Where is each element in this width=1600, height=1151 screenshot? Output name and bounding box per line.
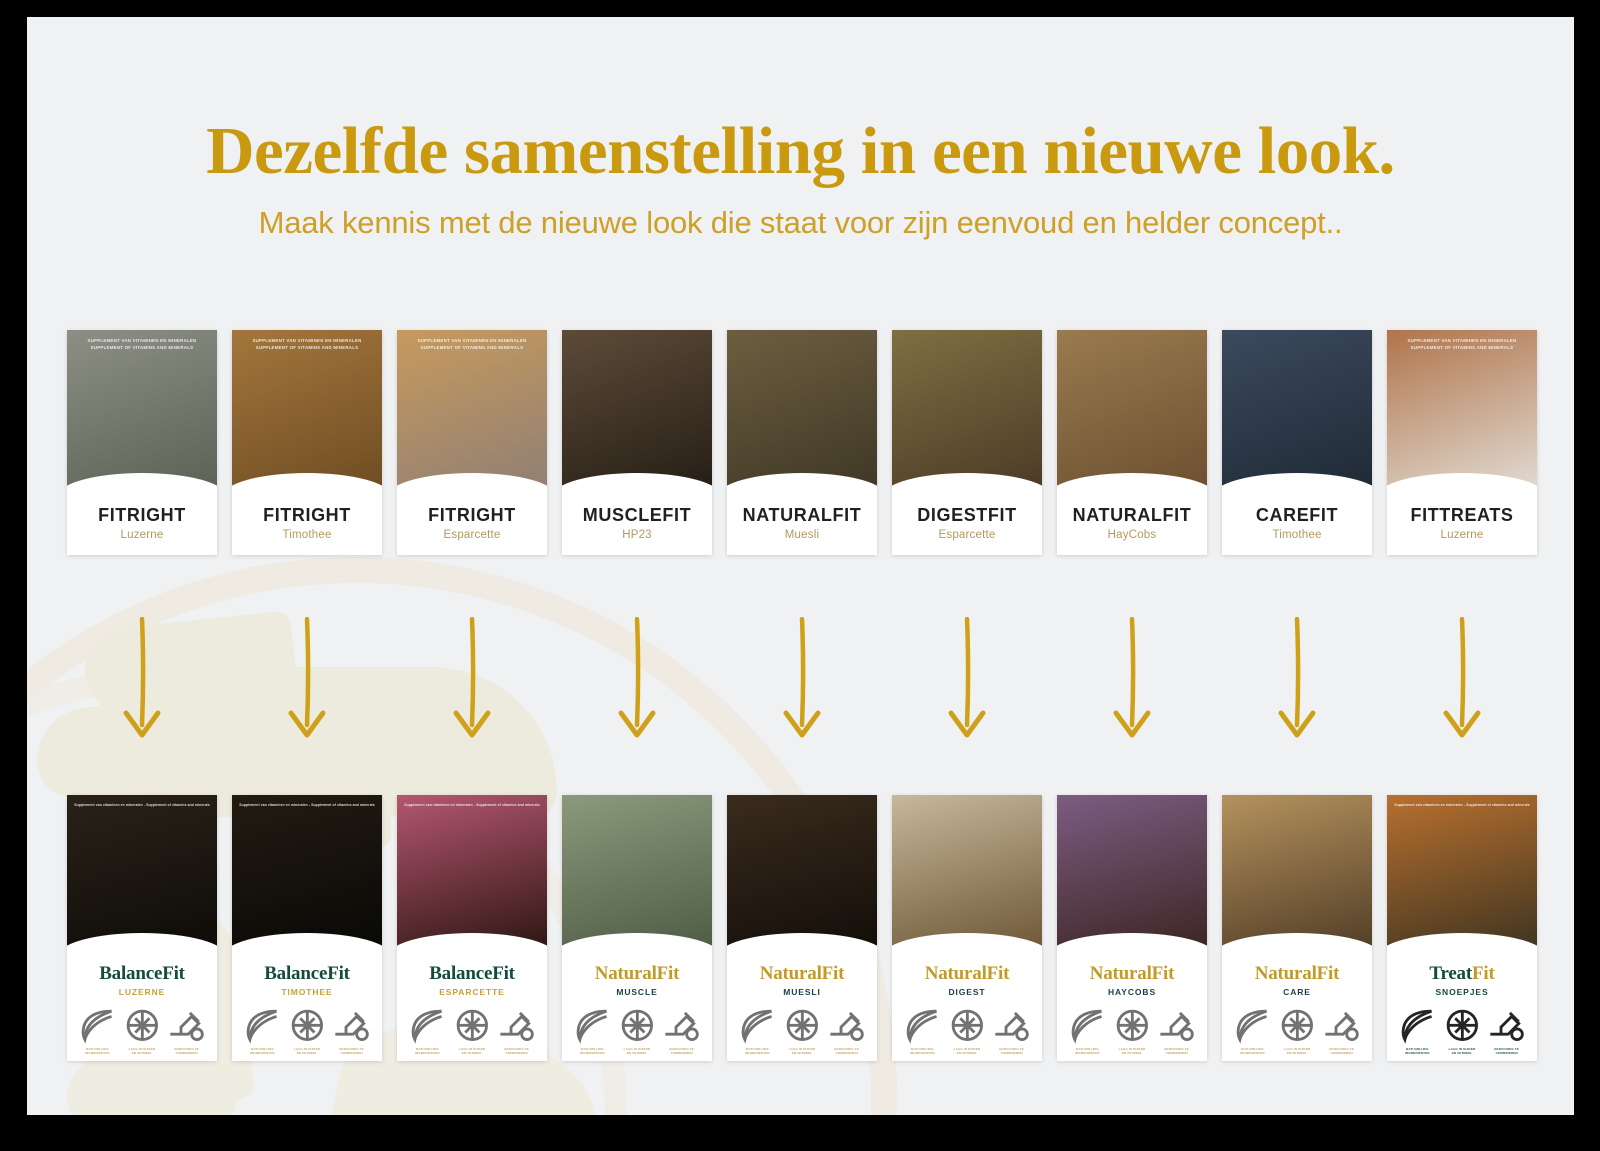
leaf-icon xyxy=(1396,1004,1439,1047)
feature-label: EENVOUDIG TECOMBINEREN xyxy=(495,1047,538,1055)
product-variant: TIMOTHEE xyxy=(236,987,378,997)
feature-row: NATUURLIJKEINGREDIËNTENLAAG IN SUIKEREN … xyxy=(1061,997,1203,1055)
feature-row: NATUURLIJKEINGREDIËNTENLAAG IN SUIKEREN … xyxy=(1226,997,1368,1055)
feature-row: NATUURLIJKEINGREDIËNTENLAAG IN SUIKEREN … xyxy=(566,997,708,1055)
product-variant: MUESLI xyxy=(731,987,873,997)
feature-label: LAAG IN SUIKEREN ZETMEEL xyxy=(1276,1047,1319,1055)
product-label: NaturalFitCARENATUURLIJKEINGREDIËNTENLAA… xyxy=(1222,955,1372,1061)
photo-curve-mask xyxy=(1387,933,1537,955)
feature-label: LAAG IN SUIKEREN ZETMEEL xyxy=(781,1047,824,1055)
photo-curve-mask xyxy=(892,473,1042,495)
packaging-banner-text: Supplement van vitaminen en mineralen - … xyxy=(1387,803,1537,808)
product-photo xyxy=(1057,330,1207,495)
feature-label: EENVOUDIG TECOMBINEREN xyxy=(1320,1047,1363,1055)
feature-label: LAAG IN SUIKEREN ZETMEEL xyxy=(121,1047,164,1055)
old-product-card[interactable]: DIGESTFITEsparcette xyxy=(892,330,1042,555)
feature-label: NATUURLIJKEINGREDIËNTEN xyxy=(1396,1047,1439,1055)
sugar-icon xyxy=(616,1004,659,1047)
feature-item-1: LAAG IN SUIKEREN ZETMEEL xyxy=(1111,1004,1154,1055)
packaging-banner-text: Supplement van vitaminen en mineralen - … xyxy=(397,803,547,808)
brand-part-secondary: Fit xyxy=(492,963,515,984)
feature-label: EENVOUDIG TECOMBINEREN xyxy=(1155,1047,1198,1055)
photo-curve-mask xyxy=(67,473,217,495)
product-variant: HAYCOBS xyxy=(1061,987,1203,997)
down-arrow-icon xyxy=(1057,617,1207,752)
new-product-card[interactable]: Supplement van vitaminen en mineralen - … xyxy=(67,795,217,1061)
feature-label: LAAG IN SUIKEREN ZETMEEL xyxy=(286,1047,329,1055)
feature-item-2: EENVOUDIG TECOMBINEREN xyxy=(165,1004,208,1055)
photo-curve-mask xyxy=(727,473,877,495)
product-label: BalanceFitESPARCETTENATUURLIJKEINGREDIËN… xyxy=(397,955,547,1061)
feature-label: EENVOUDIG TECOMBINEREN xyxy=(1485,1047,1528,1055)
brand-part-secondary: Fit xyxy=(822,963,845,984)
feature-row: NATUURLIJKEINGREDIËNTENLAAG IN SUIKEREN … xyxy=(1391,997,1533,1055)
brand-part-primary: Balance xyxy=(429,963,492,984)
poster-canvas: Dezelfde samenstelling in een nieuwe loo… xyxy=(27,17,1574,1115)
product-label: FITRIGHTEsparcette xyxy=(397,495,547,555)
sugar-icon xyxy=(1441,1004,1484,1047)
scoop-icon xyxy=(495,1004,538,1047)
feature-label: NATUURLIJKEINGREDIËNTEN xyxy=(736,1047,779,1055)
feature-label: LAAG IN SUIKEREN ZETMEEL xyxy=(946,1047,989,1055)
old-product-card[interactable]: SUPPLEMENT VAN VITAMINEN EN MINERALEN SU… xyxy=(397,330,547,555)
feature-item-0: NATUURLIJKEINGREDIËNTEN xyxy=(571,1004,614,1055)
brand-part-primary: Natural xyxy=(925,963,987,984)
sugar-icon xyxy=(286,1004,329,1047)
new-product-card[interactable]: Supplement van vitaminen en mineralen - … xyxy=(232,795,382,1061)
brand-part-secondary: Fit xyxy=(1317,963,1340,984)
feature-item-0: NATUURLIJKEINGREDIËNTEN xyxy=(241,1004,284,1055)
photo-curve-mask xyxy=(1387,473,1537,495)
product-brand: NaturalFit xyxy=(1226,963,1368,985)
product-brand: BalanceFit xyxy=(71,963,213,985)
feature-label: NATUURLIJKEINGREDIËNTEN xyxy=(1231,1047,1274,1055)
feature-label: EENVOUDIG TECOMBINEREN xyxy=(660,1047,703,1055)
product-variant: MUSCLE xyxy=(566,987,708,997)
brand-part-secondary: Fit xyxy=(162,963,185,984)
product-variant: Timothee xyxy=(1226,529,1368,541)
photo-curve-mask xyxy=(562,473,712,495)
feature-item-2: EENVOUDIG TECOMBINEREN xyxy=(1485,1004,1528,1055)
product-photo: Supplement van vitaminen en mineralen - … xyxy=(67,795,217,955)
product-photo xyxy=(1222,795,1372,955)
feature-item-1: LAAG IN SUIKEREN ZETMEEL xyxy=(286,1004,329,1055)
product-variant: Luzerne xyxy=(1391,529,1533,541)
product-label: MUSCLEFITHP23 xyxy=(562,495,712,555)
old-product-card[interactable]: NATURALFITHayCobs xyxy=(1057,330,1207,555)
leaf-icon xyxy=(571,1004,614,1047)
feature-item-2: EENVOUDIG TECOMBINEREN xyxy=(330,1004,373,1055)
leaf-icon xyxy=(736,1004,779,1047)
old-product-card[interactable]: MUSCLEFITHP23 xyxy=(562,330,712,555)
feature-item-2: EENVOUDIG TECOMBINEREN xyxy=(495,1004,538,1055)
brand-part-primary: Natural xyxy=(595,963,657,984)
photo-curve-mask xyxy=(727,933,877,955)
product-brand: FITRIGHT xyxy=(401,505,543,526)
product-label: BalanceFitLUZERNENATUURLIJKEINGREDIËNTEN… xyxy=(67,955,217,1061)
product-label: NATURALFITHayCobs xyxy=(1057,495,1207,555)
product-variant: ESPARCETTE xyxy=(401,987,543,997)
feature-label: NATUURLIJKEINGREDIËNTEN xyxy=(76,1047,119,1055)
product-brand: NaturalFit xyxy=(566,963,708,985)
feature-item-0: NATUURLIJKEINGREDIËNTEN xyxy=(76,1004,119,1055)
leaf-icon xyxy=(406,1004,449,1047)
feature-item-2: EENVOUDIG TECOMBINEREN xyxy=(990,1004,1033,1055)
scoop-icon xyxy=(165,1004,208,1047)
scoop-icon xyxy=(825,1004,868,1047)
scoop-icon xyxy=(660,1004,703,1047)
product-brand: FITTREATS xyxy=(1391,505,1533,526)
feature-label: LAAG IN SUIKEREN ZETMEEL xyxy=(451,1047,494,1055)
feature-label: NATUURLIJKEINGREDIËNTEN xyxy=(901,1047,944,1055)
feature-item-0: NATUURLIJKEINGREDIËNTEN xyxy=(901,1004,944,1055)
sugar-icon xyxy=(1276,1004,1319,1047)
poster-header: Dezelfde samenstelling in een nieuwe loo… xyxy=(27,17,1574,241)
new-product-card[interactable]: NaturalFitMUSCLENATUURLIJKEINGREDIËNTENL… xyxy=(562,795,712,1061)
product-label: DIGESTFITEsparcette xyxy=(892,495,1042,555)
product-brand: NaturalFit xyxy=(896,963,1038,985)
down-arrow-icon xyxy=(892,617,1042,752)
product-variant: LUZERNE xyxy=(71,987,213,997)
product-photo: SUPPLEMENT VAN VITAMINEN EN MINERALEN SU… xyxy=(397,330,547,495)
brand-part-primary: Balance xyxy=(99,963,162,984)
feature-item-2: EENVOUDIG TECOMBINEREN xyxy=(1320,1004,1363,1055)
photo-curve-mask xyxy=(397,473,547,495)
feature-item-0: NATUURLIJKEINGREDIËNTEN xyxy=(736,1004,779,1055)
photo-curve-mask xyxy=(232,473,382,495)
brand-part-secondary: Fit xyxy=(327,963,350,984)
product-label: TreatFitSNOEPJESNATUURLIJKEINGREDIËNTENL… xyxy=(1387,955,1537,1061)
photo-curve-mask xyxy=(892,933,1042,955)
photo-curve-mask xyxy=(1222,473,1372,495)
down-arrow-icon xyxy=(1387,617,1537,752)
old-packaging-row: SUPPLEMENT VAN VITAMINEN EN MINERALEN SU… xyxy=(67,330,1537,555)
feature-row: NATUURLIJKEINGREDIËNTENLAAG IN SUIKEREN … xyxy=(236,997,378,1055)
product-variant: Luzerne xyxy=(71,529,213,541)
feature-item-1: LAAG IN SUIKEREN ZETMEEL xyxy=(781,1004,824,1055)
sugar-icon xyxy=(946,1004,989,1047)
down-arrow-icon xyxy=(727,617,877,752)
scoop-icon xyxy=(1320,1004,1363,1047)
photo-curve-mask xyxy=(1057,933,1207,955)
photo-curve-mask xyxy=(67,933,217,955)
photo-curve-mask xyxy=(1222,933,1372,955)
brand-part-primary: Natural xyxy=(760,963,822,984)
leaf-icon xyxy=(901,1004,944,1047)
feature-label: EENVOUDIG TECOMBINEREN xyxy=(165,1047,208,1055)
feature-item-0: NATUURLIJKEINGREDIËNTEN xyxy=(1066,1004,1109,1055)
feature-label: EENVOUDIG TECOMBINEREN xyxy=(990,1047,1033,1055)
leaf-icon xyxy=(1231,1004,1274,1047)
feature-label: NATUURLIJKEINGREDIËNTEN xyxy=(406,1047,449,1055)
down-arrow-icon xyxy=(397,617,547,752)
product-brand: NATURALFIT xyxy=(731,505,873,526)
product-photo: Supplement van vitaminen en mineralen - … xyxy=(232,795,382,955)
product-brand: FITRIGHT xyxy=(236,505,378,526)
product-label: FITRIGHTLuzerne xyxy=(67,495,217,555)
photo-curve-mask xyxy=(562,933,712,955)
product-photo: Supplement van vitaminen en mineralen - … xyxy=(397,795,547,955)
brand-part-primary: Natural xyxy=(1255,963,1317,984)
product-label: CAREFITTimothee xyxy=(1222,495,1372,555)
leaf-icon xyxy=(76,1004,119,1047)
page-subtitle: Maak kennis met de nieuwe look die staat… xyxy=(27,205,1574,241)
scoop-icon xyxy=(330,1004,373,1047)
product-photo xyxy=(1222,330,1372,495)
packaging-banner-text: SUPPLEMENT VAN VITAMINEN EN MINERALEN SU… xyxy=(232,338,382,352)
packaging-banner-text: Supplement van vitaminen en mineralen - … xyxy=(67,803,217,808)
new-product-card[interactable]: NaturalFitMUESLINATUURLIJKEINGREDIËNTENL… xyxy=(727,795,877,1061)
feature-item-0: NATUURLIJKEINGREDIËNTEN xyxy=(1231,1004,1274,1055)
leaf-icon xyxy=(241,1004,284,1047)
product-label: FITRIGHTTimothee xyxy=(232,495,382,555)
product-label: NaturalFitMUESLINATUURLIJKEINGREDIËNTENL… xyxy=(727,955,877,1061)
product-variant: Muesli xyxy=(731,529,873,541)
old-product-card[interactable]: SUPPLEMENT VAN VITAMINEN EN MINERALEN SU… xyxy=(67,330,217,555)
product-photo: Supplement van vitaminen en mineralen - … xyxy=(1387,795,1537,955)
feature-label: LAAG IN SUIKEREN ZETMEEL xyxy=(1111,1047,1154,1055)
feature-label: EENVOUDIG TECOMBINEREN xyxy=(825,1047,868,1055)
brand-part-primary: Balance xyxy=(264,963,327,984)
feature-label: EENVOUDIG TECOMBINEREN xyxy=(330,1047,373,1055)
old-product-card[interactable]: SUPPLEMENT VAN VITAMINEN EN MINERALEN SU… xyxy=(232,330,382,555)
product-photo xyxy=(727,795,877,955)
product-variant: CARE xyxy=(1226,987,1368,997)
feature-item-1: LAAG IN SUIKEREN ZETMEEL xyxy=(121,1004,164,1055)
packaging-banner-text: SUPPLEMENT VAN VITAMINEN EN MINERALEN SU… xyxy=(397,338,547,352)
product-label: BalanceFitTIMOTHEENATUURLIJKEINGREDIËNTE… xyxy=(232,955,382,1061)
product-variant: HP23 xyxy=(566,529,708,541)
new-product-card[interactable]: Supplement van vitaminen en mineralen - … xyxy=(397,795,547,1061)
leaf-icon xyxy=(1066,1004,1109,1047)
product-variant: SNOEPJES xyxy=(1391,987,1533,997)
feature-item-2: EENVOUDIG TECOMBINEREN xyxy=(1155,1004,1198,1055)
product-variant: Timothee xyxy=(236,529,378,541)
down-arrow-icon xyxy=(562,617,712,752)
old-product-card[interactable]: NATURALFITMuesli xyxy=(727,330,877,555)
feature-label: NATUURLIJKEINGREDIËNTEN xyxy=(571,1047,614,1055)
sugar-icon xyxy=(1111,1004,1154,1047)
product-variant: DIGEST xyxy=(896,987,1038,997)
brand-part-secondary: Fit xyxy=(1472,963,1495,984)
packaging-banner-text: SUPPLEMENT VAN VITAMINEN EN MINERALEN SU… xyxy=(67,338,217,352)
new-product-card[interactable]: NaturalFitHAYCOBSNATUURLIJKEINGREDIËNTEN… xyxy=(1057,795,1207,1061)
product-photo xyxy=(727,330,877,495)
product-photo: SUPPLEMENT VAN VITAMINEN EN MINERALEN SU… xyxy=(232,330,382,495)
feature-item-2: EENVOUDIG TECOMBINEREN xyxy=(825,1004,868,1055)
sugar-icon xyxy=(451,1004,494,1047)
feature-item-1: LAAG IN SUIKEREN ZETMEEL xyxy=(1441,1004,1484,1055)
product-brand: DIGESTFIT xyxy=(896,505,1038,526)
feature-item-1: LAAG IN SUIKEREN ZETMEEL xyxy=(616,1004,659,1055)
product-label: NaturalFitDIGESTNATUURLIJKEINGREDIËNTENL… xyxy=(892,955,1042,1061)
product-photo xyxy=(1057,795,1207,955)
product-photo xyxy=(892,795,1042,955)
product-brand: BalanceFit xyxy=(401,963,543,985)
down-arrow-icon xyxy=(232,617,382,752)
new-product-card[interactable]: NaturalFitCARENATUURLIJKEINGREDIËNTENLAA… xyxy=(1222,795,1372,1061)
photo-curve-mask xyxy=(1057,473,1207,495)
product-brand: FITRIGHT xyxy=(71,505,213,526)
brand-part-primary: Treat xyxy=(1429,963,1472,984)
product-brand: CAREFIT xyxy=(1226,505,1368,526)
sugar-icon xyxy=(121,1004,164,1047)
new-packaging-row: Supplement van vitaminen en mineralen - … xyxy=(67,795,1537,1061)
product-brand: MUSCLEFIT xyxy=(566,505,708,526)
product-label: NaturalFitHAYCOBSNATUURLIJKEINGREDIËNTEN… xyxy=(1057,955,1207,1061)
feature-item-0: NATUURLIJKEINGREDIËNTEN xyxy=(406,1004,449,1055)
scoop-icon xyxy=(1485,1004,1528,1047)
product-photo: SUPPLEMENT VAN VITAMINEN EN MINERALEN SU… xyxy=(1387,330,1537,495)
product-variant: Esparcette xyxy=(401,529,543,541)
product-photo xyxy=(562,330,712,495)
product-brand: TreatFit xyxy=(1391,963,1533,985)
packaging-banner-text: SUPPLEMENT VAN VITAMINEN EN MINERALEN SU… xyxy=(1387,338,1537,352)
transition-arrows xyxy=(67,617,1537,752)
feature-row: NATUURLIJKEINGREDIËNTENLAAG IN SUIKEREN … xyxy=(896,997,1038,1055)
feature-item-2: EENVOUDIG TECOMBINEREN xyxy=(660,1004,703,1055)
feature-item-1: LAAG IN SUIKEREN ZETMEEL xyxy=(946,1004,989,1055)
brand-part-secondary: Fit xyxy=(1152,963,1175,984)
scoop-icon xyxy=(1155,1004,1198,1047)
feature-label: LAAG IN SUIKEREN ZETMEEL xyxy=(1441,1047,1484,1055)
new-product-card[interactable]: Supplement van vitaminen en mineralen - … xyxy=(1387,795,1537,1061)
page-title: Dezelfde samenstelling in een nieuwe loo… xyxy=(27,115,1574,189)
down-arrow-icon xyxy=(67,617,217,752)
feature-row: NATUURLIJKEINGREDIËNTENLAAG IN SUIKEREN … xyxy=(401,997,543,1055)
sugar-icon xyxy=(781,1004,824,1047)
product-photo xyxy=(562,795,712,955)
feature-item-1: LAAG IN SUIKEREN ZETMEEL xyxy=(1276,1004,1319,1055)
product-variant: Esparcette xyxy=(896,529,1038,541)
feature-label: LAAG IN SUIKEREN ZETMEEL xyxy=(616,1047,659,1055)
old-product-card[interactable]: SUPPLEMENT VAN VITAMINEN EN MINERALEN SU… xyxy=(1387,330,1537,555)
feature-item-1: LAAG IN SUIKEREN ZETMEEL xyxy=(451,1004,494,1055)
product-brand: BalanceFit xyxy=(236,963,378,985)
scoop-icon xyxy=(990,1004,1033,1047)
feature-row: NATUURLIJKEINGREDIËNTENLAAG IN SUIKEREN … xyxy=(731,997,873,1055)
new-product-card[interactable]: NaturalFitDIGESTNATUURLIJKEINGREDIËNTENL… xyxy=(892,795,1042,1061)
product-brand: NaturalFit xyxy=(1061,963,1203,985)
feature-label: NATUURLIJKEINGREDIËNTEN xyxy=(241,1047,284,1055)
brand-part-secondary: Fit xyxy=(987,963,1010,984)
product-photo xyxy=(892,330,1042,495)
old-product-card[interactable]: CAREFITTimothee xyxy=(1222,330,1372,555)
down-arrow-icon xyxy=(1222,617,1372,752)
photo-curve-mask xyxy=(397,933,547,955)
product-photo: SUPPLEMENT VAN VITAMINEN EN MINERALEN SU… xyxy=(67,330,217,495)
brand-part-primary: Natural xyxy=(1090,963,1152,984)
product-brand: NaturalFit xyxy=(731,963,873,985)
packaging-banner-text: Supplement van vitaminen en mineralen - … xyxy=(232,803,382,808)
product-label: NATURALFITMuesli xyxy=(727,495,877,555)
product-brand: NATURALFIT xyxy=(1061,505,1203,526)
feature-row: NATUURLIJKEINGREDIËNTENLAAG IN SUIKEREN … xyxy=(71,997,213,1055)
photo-curve-mask xyxy=(232,933,382,955)
feature-label: NATUURLIJKEINGREDIËNTEN xyxy=(1066,1047,1109,1055)
brand-part-secondary: Fit xyxy=(657,963,680,984)
product-label: NaturalFitMUSCLENATUURLIJKEINGREDIËNTENL… xyxy=(562,955,712,1061)
feature-item-0: NATUURLIJKEINGREDIËNTEN xyxy=(1396,1004,1439,1055)
product-variant: HayCobs xyxy=(1061,529,1203,541)
product-label: FITTREATSLuzerne xyxy=(1387,495,1537,555)
